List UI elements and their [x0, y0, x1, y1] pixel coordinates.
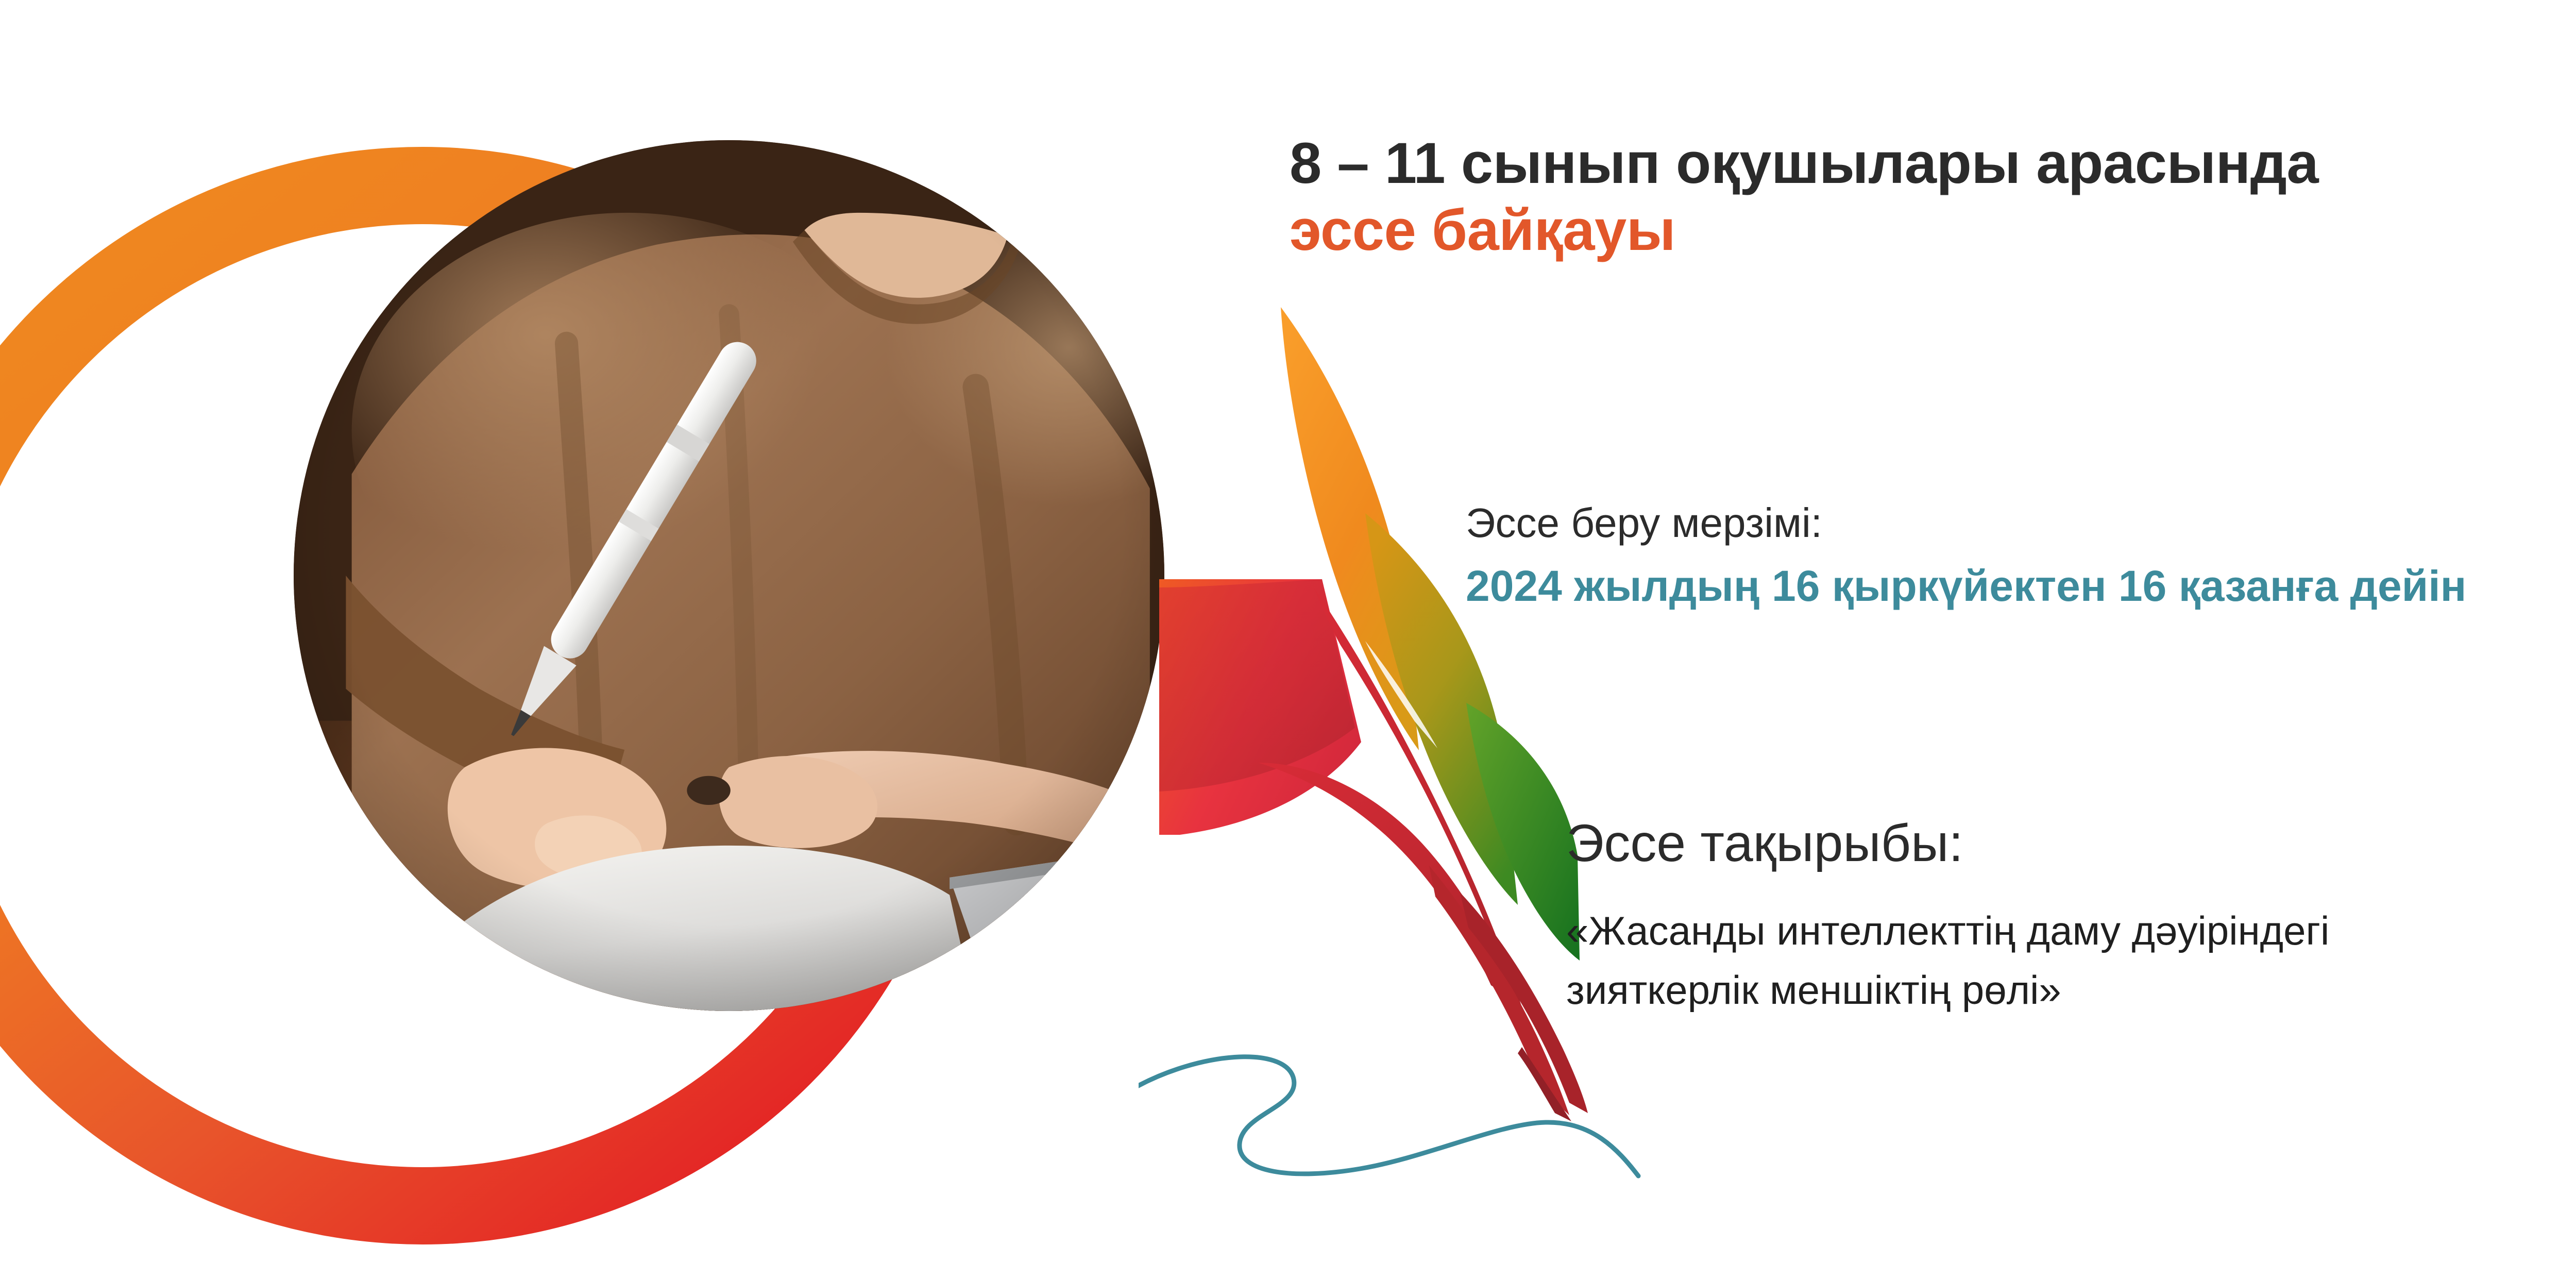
- topic-label: Эссе тақырыбы:: [1566, 812, 2329, 874]
- topic-block: Эссе тақырыбы: «Жасанды интеллекттің дам…: [1566, 812, 2329, 1020]
- topic-quote: «Жасанды интеллекттің даму дәуіріндегі з…: [1566, 901, 2329, 1019]
- deadline-value: 2024 жылдың 16 қыркүйектен 16 қазанға де…: [1466, 560, 2466, 612]
- deadline-block: Эссе беру мерзімі: 2024 жылдың 16 қыркүй…: [1466, 497, 2466, 612]
- essay-contest-banner: 8 – 11 сынып оқушылары арасында эссе бай…: [0, 0, 2576, 1279]
- deadline-label: Эссе беру мерзімі:: [1466, 497, 2466, 549]
- student-writing-photo: [294, 140, 1164, 1011]
- headline-line-1: 8 – 11 сынып оқушылары арасында: [1290, 131, 2318, 195]
- headline-line-2: эссе байқауы: [1290, 197, 2318, 264]
- topic-quote-line-1: «Жасанды интеллекттің даму дәуіріндегі: [1566, 901, 2329, 961]
- topic-quote-line-2: зияткерлік меншіктің рөлі»: [1566, 961, 2329, 1020]
- page-title: 8 – 11 сынып оқушылары арасында эссе бай…: [1290, 130, 2318, 264]
